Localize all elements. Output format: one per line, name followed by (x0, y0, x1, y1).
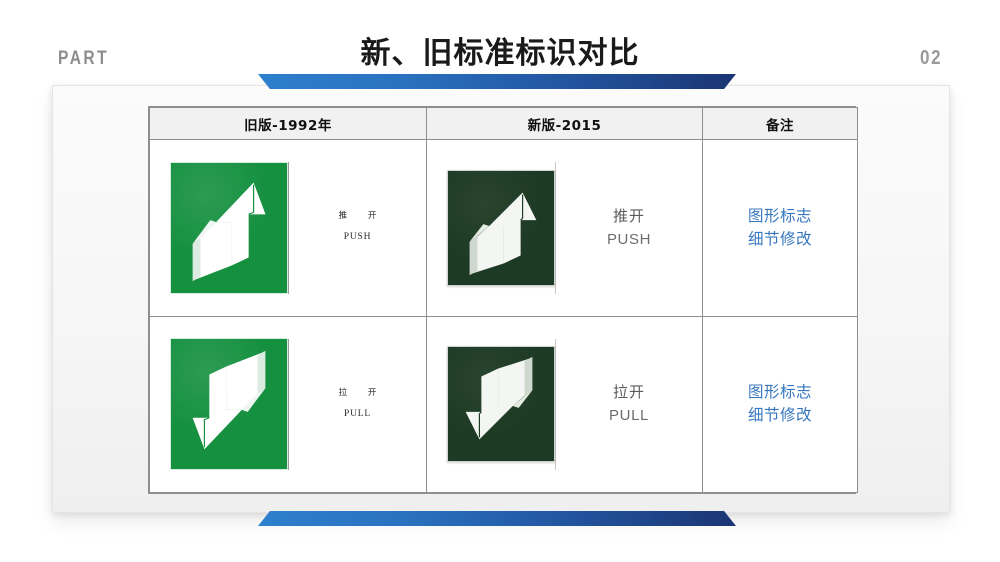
slide-header: PART 新、旧标准标识对比 02 (0, 0, 1000, 85)
pull-arrow-sign-1992 (170, 338, 288, 470)
cell-note-push: 图形标志 细节修改 (703, 140, 858, 317)
push-arrow-sign-2015 (447, 170, 555, 286)
push-arrow-sign-1992 (170, 162, 288, 294)
cell-new-pull: 拉开 PULL (427, 316, 703, 493)
caption-cn: 拉 开 (289, 387, 426, 400)
pull-arrow-sign-2015 (447, 346, 555, 462)
caption-cn: 推 开 (289, 210, 426, 223)
top-blue-ribbon (258, 74, 736, 89)
caption-en: PUSH (556, 228, 702, 251)
remark-line-1: 图形标志 (703, 205, 857, 228)
column-header-new: 新版-2015 (427, 108, 703, 140)
sign-caption-old-push: 推 开 PUSH (289, 210, 426, 245)
column-header-note: 备注 (703, 108, 858, 140)
sign-caption-new-push: 推开 PUSH (556, 205, 702, 252)
table-header-row: 旧版-1992年 新版-2015 备注 (150, 108, 858, 140)
cell-note-pull: 图形标志 细节修改 (703, 316, 858, 493)
cell-new-push: 推开 PUSH (427, 140, 703, 317)
remark-text: 图形标志 细节修改 (703, 205, 857, 252)
content-card: 旧版-1992年 新版-2015 备注 (52, 85, 950, 513)
remark-line-2: 细节修改 (703, 404, 857, 427)
table-row: 推 开 PUSH (150, 140, 858, 317)
remark-line-1: 图形标志 (703, 381, 857, 404)
cell-old-push: 推 开 PUSH (150, 140, 427, 317)
table-row: 拉 开 PULL (150, 316, 858, 493)
comparison-table: 旧版-1992年 新版-2015 备注 (148, 106, 856, 494)
remark-text: 图形标志 细节修改 (703, 381, 857, 428)
caption-en: PUSH (289, 230, 426, 245)
caption-cn: 推开 (556, 205, 702, 228)
caption-en: PULL (556, 404, 702, 427)
column-header-old: 旧版-1992年 (150, 108, 427, 140)
cell-old-pull: 拉 开 PULL (150, 316, 427, 493)
page-title: 新、旧标准标识对比 (0, 28, 1000, 72)
remark-line-2: 细节修改 (703, 228, 857, 251)
caption-en: PULL (289, 407, 426, 422)
part-number: 02 (920, 47, 942, 70)
bottom-blue-ribbon (258, 511, 736, 526)
caption-cn: 拉开 (556, 381, 702, 404)
sign-caption-new-pull: 拉开 PULL (556, 381, 702, 428)
sign-caption-old-pull: 拉 开 PULL (289, 387, 426, 422)
